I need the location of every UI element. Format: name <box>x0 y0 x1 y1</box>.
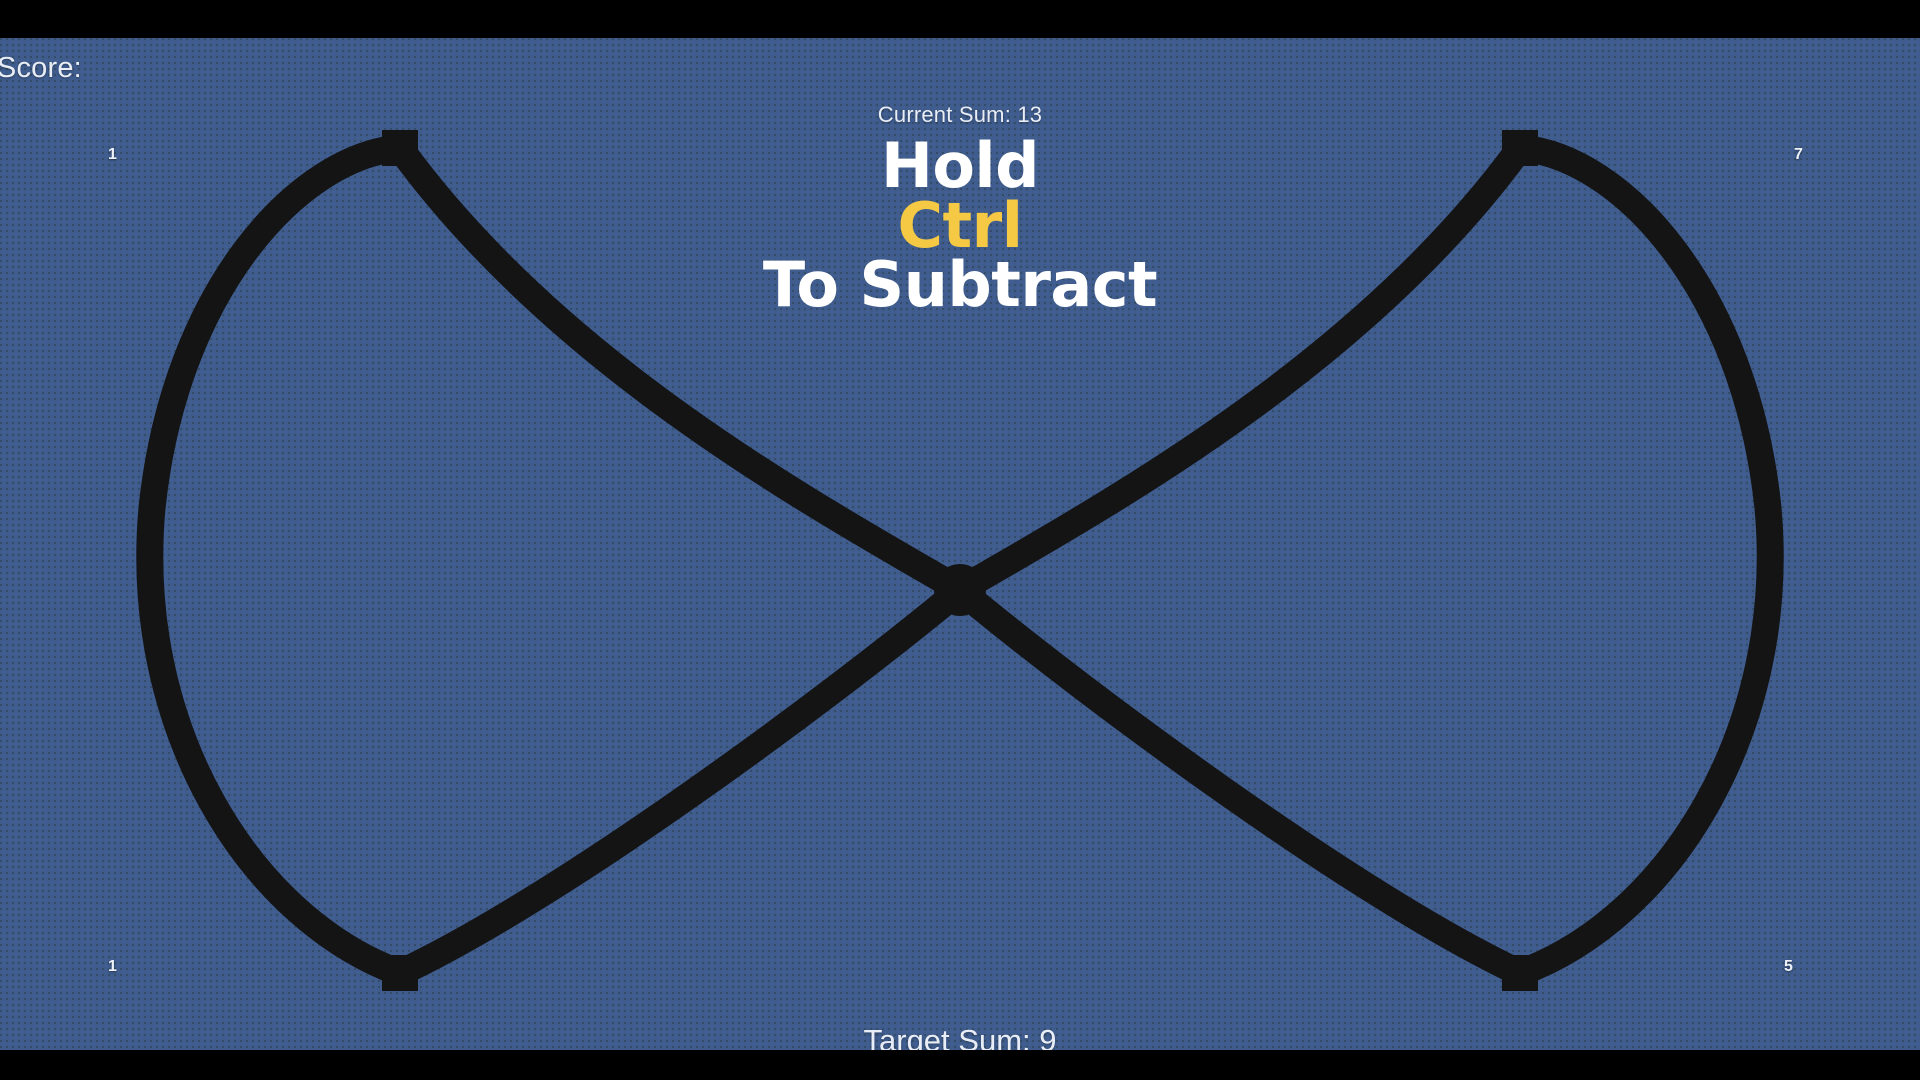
control-hint-line-ctrl: Ctrl <box>0 196 1920 256</box>
game-playfield[interactable]: l Score: Current Sum: 13 Hold Ctrl To Su… <box>0 38 1920 1050</box>
corner-number-bottom-left: 1 <box>108 958 117 976</box>
letterbox-bottom-bar <box>0 1050 1920 1080</box>
corner-number-bottom-right: 5 <box>1784 958 1793 976</box>
control-hint-line-hold: Hold <box>0 136 1920 196</box>
control-hint-line-to-subtract: To Subtract <box>0 255 1920 315</box>
track-node-bottom-left[interactable] <box>382 955 418 991</box>
control-hint: Hold Ctrl To Subtract <box>0 136 1920 315</box>
target-sum-label: Target Sum: 9 <box>0 1023 1920 1050</box>
track-node-center[interactable] <box>934 564 986 616</box>
current-sum-label: Current Sum: 13 <box>0 102 1920 128</box>
score-label: l Score: <box>0 52 82 85</box>
letterbox-top-bar <box>0 0 1920 38</box>
track-node-bottom-right[interactable] <box>1502 955 1538 991</box>
